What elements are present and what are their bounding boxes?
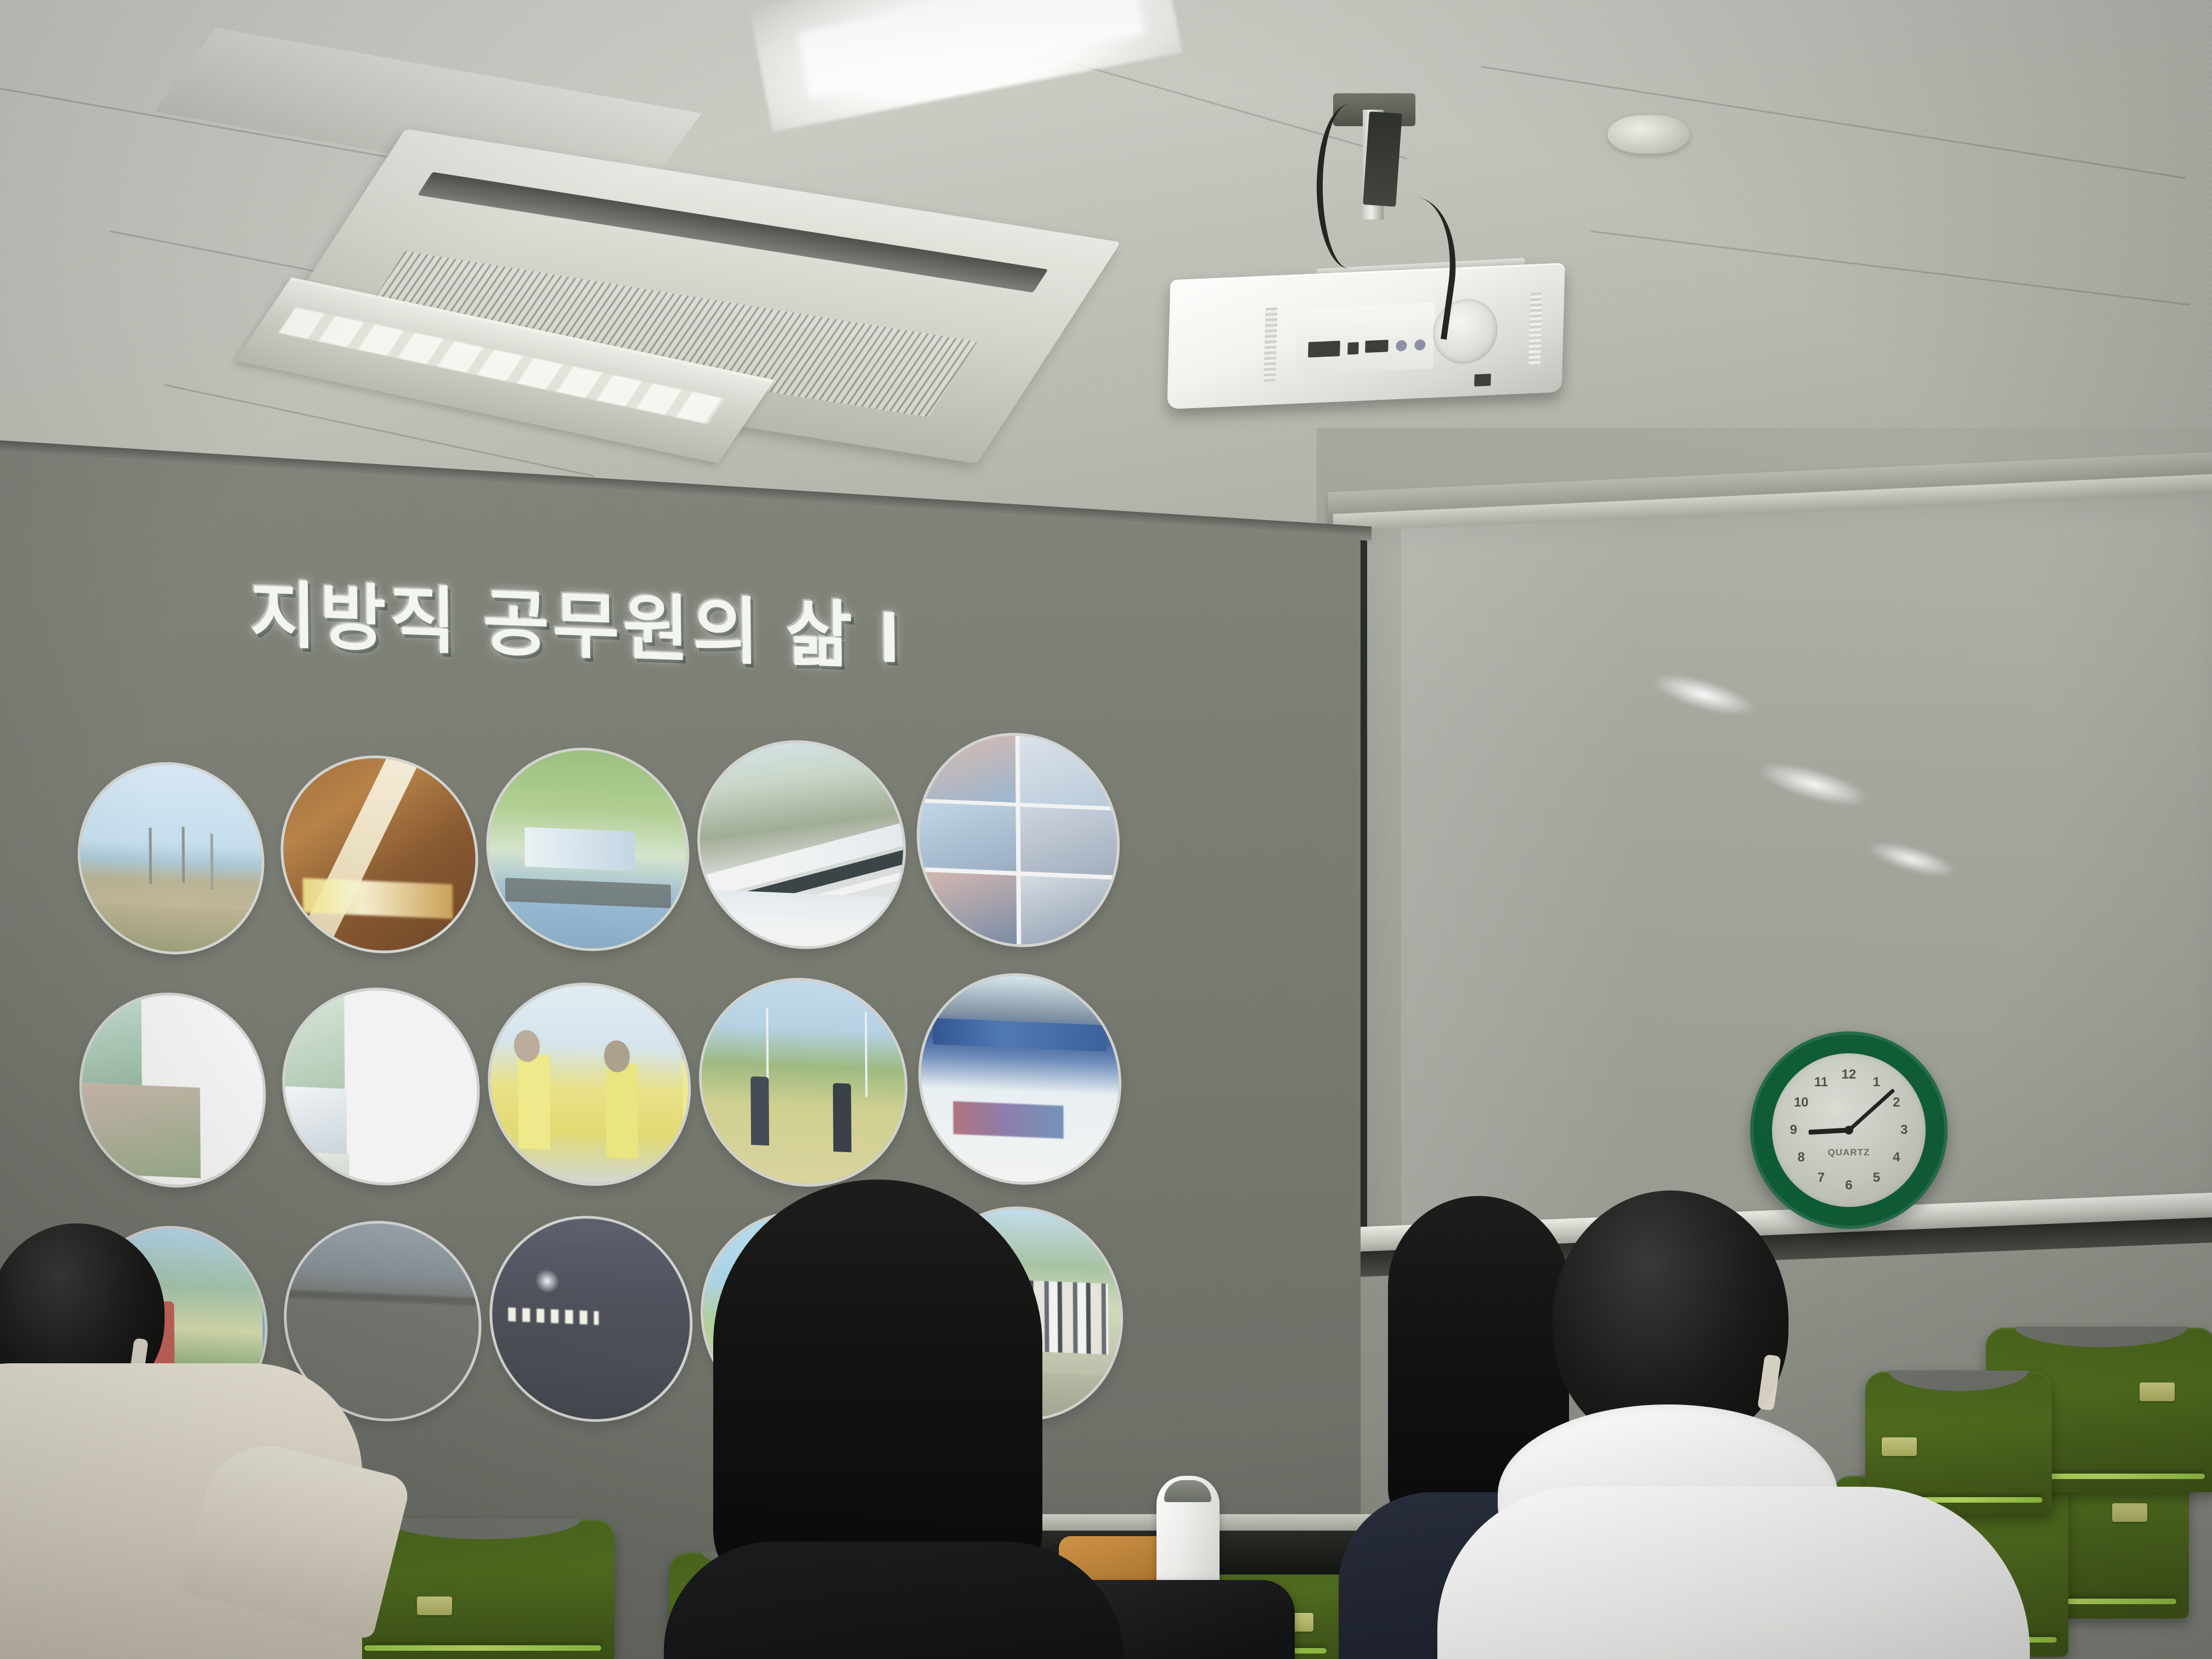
classroom-photo: 12 1 2 3 4 5 6 7 8 9 10 11 QUARTZ 지방직 공무…	[0, 0, 2212, 1659]
projector-hdmi-port	[1308, 341, 1340, 358]
clock-brand-label: QUARTZ	[1772, 1147, 1926, 1158]
slide-photo-circle	[81, 992, 263, 1189]
projector-power-cable	[1317, 104, 1383, 269]
clock-numeral: 2	[1887, 1096, 1906, 1110]
torso	[664, 1542, 1125, 1659]
slide-photo-circle	[80, 761, 262, 955]
chair-tag	[2112, 1503, 2147, 1522]
clock-numeral: 7	[1812, 1171, 1831, 1185]
slide-photo-circle	[490, 981, 689, 1187]
slide-photo-circle	[492, 1215, 691, 1423]
long-hair	[713, 1180, 1042, 1596]
slide-photo-circle	[919, 732, 1118, 949]
clock-numeral: 3	[1895, 1123, 1914, 1137]
person-front-center	[675, 1180, 1092, 1659]
projector-status-port	[1474, 374, 1491, 386]
projector-vent-left	[1263, 307, 1278, 382]
projector-body	[1167, 263, 1565, 409]
clock-numeral: 1	[1867, 1075, 1886, 1090]
projector-vga-port	[1365, 340, 1389, 353]
tumbler-lid	[1164, 1480, 1211, 1502]
chair-tag	[417, 1596, 452, 1615]
clock-minute-hand	[1848, 1088, 1895, 1132]
person-front-right	[1426, 1190, 2085, 1659]
smoke-detector-icon	[1607, 115, 1690, 154]
slide-photo-circle	[284, 986, 477, 1187]
slide-photo-circle	[283, 754, 476, 955]
projector-vent-right	[1528, 292, 1542, 364]
slide-photo-circle	[488, 747, 687, 952]
ceiling-projector	[1152, 82, 1591, 373]
slide-photo-circle	[921, 972, 1120, 1186]
projector-indicator-led	[1396, 340, 1407, 352]
slide-photo-circle	[701, 977, 906, 1188]
clock-numeral: 12	[1839, 1068, 1858, 1082]
projector-usb-port	[1347, 342, 1359, 355]
whiteboard-glare	[1401, 519, 1640, 1248]
clock-face: 12 1 2 3 4 5 6 7 8 9 10 11 QUARTZ	[1772, 1053, 1926, 1207]
clock-numeral: 5	[1867, 1171, 1886, 1185]
person-front-left	[0, 1223, 384, 1659]
clock-numeral: 11	[1812, 1075, 1831, 1090]
slide-photo-circle	[699, 739, 904, 951]
chair-tag	[2140, 1383, 2175, 1401]
clock-numeral: 10	[1792, 1096, 1810, 1110]
clock-center-pin	[1844, 1126, 1853, 1135]
clock-numeral: 9	[1784, 1123, 1803, 1137]
projector-power-button[interactable]	[1414, 339, 1426, 351]
torso	[1437, 1487, 2030, 1659]
clock-hour-hand	[1808, 1128, 1849, 1135]
